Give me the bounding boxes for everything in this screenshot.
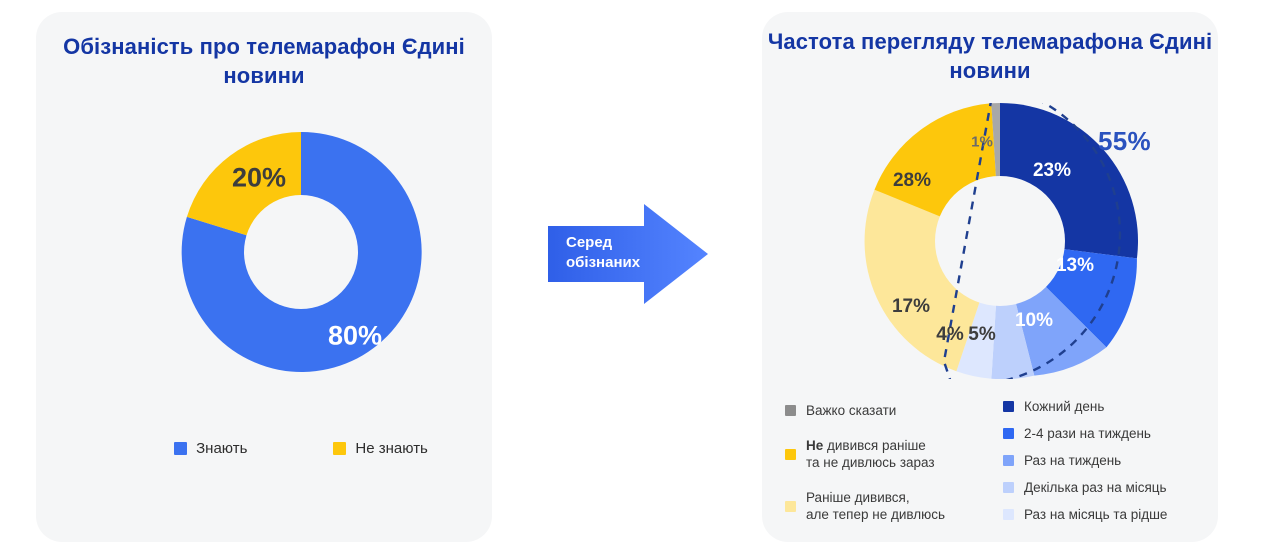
frequency-donut-svg xyxy=(862,103,1138,379)
legend-item-znayut[interactable]: Знають xyxy=(174,440,247,457)
frequency-card-title: Частота перегляду телемарафона Єдині нов… xyxy=(762,27,1218,85)
highlight-55-label: 55% xyxy=(1098,126,1151,157)
legend-label: Кожний день xyxy=(1024,398,1104,415)
awareness-donut-chart: 80% 20% xyxy=(169,120,433,384)
legend-label-bold-prefix: Не xyxy=(806,438,827,453)
legend-swatch-icon xyxy=(174,442,187,455)
frequency-donut-chart: 23% 13% 10% 5% 4% 17% 28% 1% xyxy=(862,103,1138,379)
frequency-label-17: 17% xyxy=(892,296,930,318)
frequency-label-13: 13% xyxy=(1056,255,1094,277)
legend-label: Знають xyxy=(196,440,247,457)
legend-label: Не дивився раніше та не дивлюсь зараз xyxy=(806,437,935,471)
frequency-label-1: 1% xyxy=(971,134,993,151)
legend-swatch-icon xyxy=(1003,482,1014,493)
frequency-label-28: 28% xyxy=(893,170,931,192)
legend-label: Не знають xyxy=(355,440,427,457)
legend-item-ranishe-dyvyvsya[interactable]: Раніше дивився, але тепер не дивлюсь xyxy=(785,489,985,523)
frequency-label-23: 23% xyxy=(1033,160,1071,182)
legend-item-2-4-razy[interactable]: 2-4 рази на тиждень xyxy=(1003,425,1208,442)
legend-label: Раніше дивився, але тепер не дивлюсь xyxy=(806,489,945,523)
among-aware-arrow: Серед обізнаних xyxy=(548,204,708,304)
legend-item-kozhnyi-den[interactable]: Кожний день xyxy=(1003,398,1208,415)
donut-hole xyxy=(244,195,358,309)
legend-label: Важко сказати xyxy=(806,402,896,419)
legend-swatch-icon xyxy=(785,405,796,416)
legend-item-ne-dyvyvsya[interactable]: Не дивився раніше та не дивлюсь зараз xyxy=(785,437,985,471)
awareness-legend: Знають Не знають xyxy=(96,440,506,457)
awareness-label-80: 80% xyxy=(328,321,382,352)
legend-swatch-icon xyxy=(785,501,796,512)
legend-item-vazhko-skazaty[interactable]: Важко сказати xyxy=(785,402,985,419)
legend-item-raz-na-tyzhden[interactable]: Раз на тиждень xyxy=(1003,452,1208,469)
frequency-label-5: 5% xyxy=(968,324,995,346)
legend-swatch-icon xyxy=(785,449,796,460)
legend-item-ne-znayut[interactable]: Не знають xyxy=(333,440,427,457)
frequency-label-4: 4% xyxy=(936,324,963,346)
awareness-card-title: Обізнаність про телемарафон Єдині новини xyxy=(36,32,492,90)
legend-swatch-icon xyxy=(333,442,346,455)
legend-swatch-icon xyxy=(1003,455,1014,466)
legend-label: 2-4 рази на тиждень xyxy=(1024,425,1151,442)
frequency-legend: Важко сказати Не дивився раніше та не ди… xyxy=(785,398,1210,523)
legend-swatch-icon xyxy=(1003,428,1014,439)
donut-hole xyxy=(935,176,1065,306)
arrow-label: Серед обізнаних xyxy=(566,233,640,273)
legend-label: Декілька раз на місяць xyxy=(1024,479,1167,496)
frequency-legend-column-left: Важко сказати Не дивився раніше та не ди… xyxy=(785,398,985,523)
awareness-card: Обізнаність про телемарафон Єдині новини… xyxy=(36,12,492,542)
frequency-label-10: 10% xyxy=(1015,310,1053,332)
awareness-label-20: 20% xyxy=(232,163,286,194)
legend-item-dekilka-raz[interactable]: Декілька раз на місяць xyxy=(1003,479,1208,496)
infographic-root: Обізнаність про телемарафон Єдині новини… xyxy=(0,0,1280,555)
awareness-donut-svg xyxy=(169,120,433,384)
frequency-legend-column-right: Кожний день 2-4 рази на тиждень Раз на т… xyxy=(1003,398,1208,523)
legend-item-raz-misyats[interactable]: Раз на місяць та рідше xyxy=(1003,506,1208,523)
legend-label: Раз на місяць та рідше xyxy=(1024,506,1167,523)
legend-swatch-icon xyxy=(1003,401,1014,412)
legend-swatch-icon xyxy=(1003,509,1014,520)
legend-label: Раз на тиждень xyxy=(1024,452,1121,469)
